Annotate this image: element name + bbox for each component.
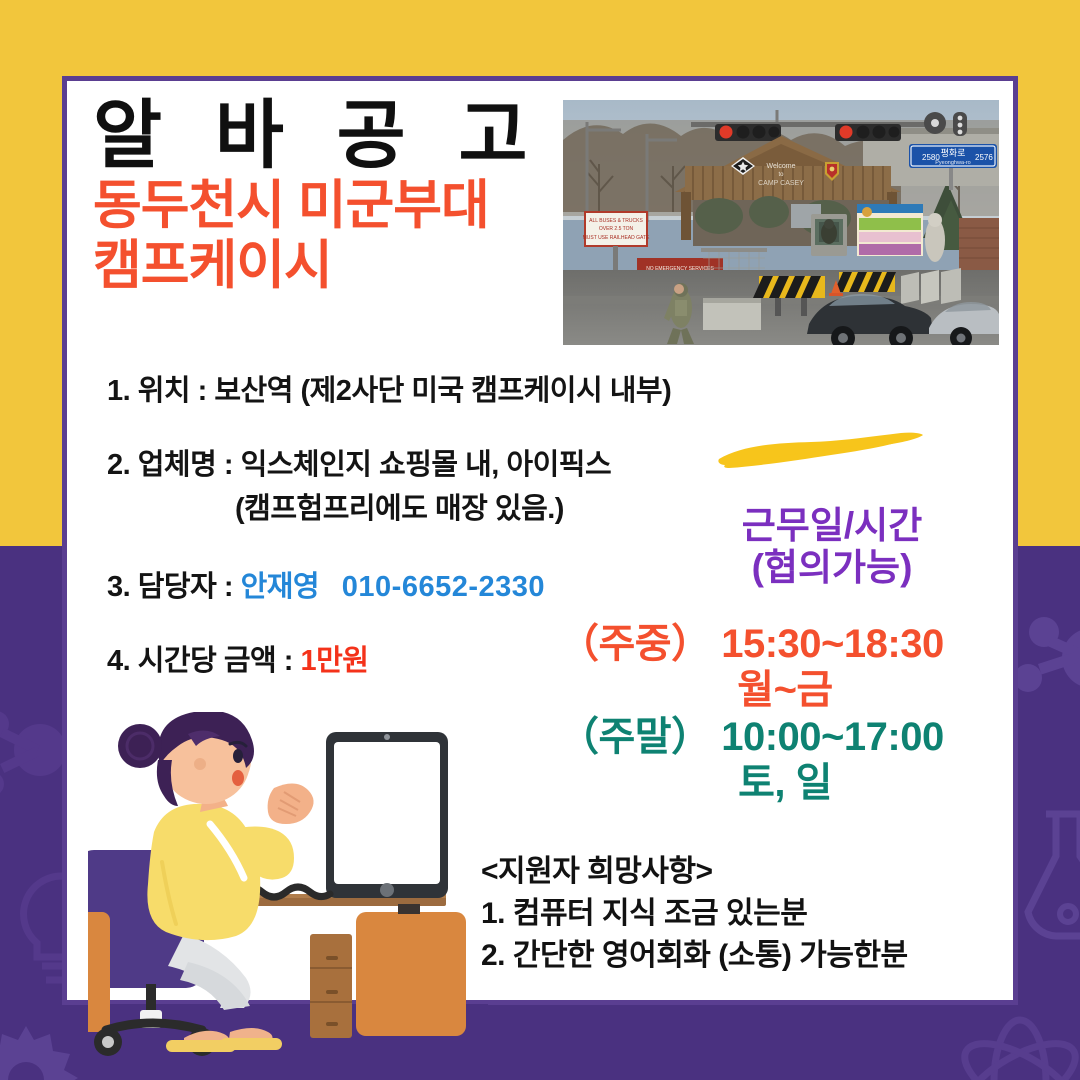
weekday-hours: 15:30~18:30 xyxy=(721,622,943,666)
svg-text:to: to xyxy=(778,172,784,178)
weekday-label: （주중） xyxy=(559,622,711,666)
contact-phone-number[interactable]: 010-6652-2330 xyxy=(342,571,545,603)
detail-location-label: 1. 위치 : xyxy=(107,375,214,407)
svg-text:Pyeonghwa-ro: Pyeonghwa-ro xyxy=(935,160,970,166)
requirement-item-1: 1. 컴퓨터 지식 조금 있는분 xyxy=(481,893,908,935)
svg-text:Welcome: Welcome xyxy=(766,163,795,170)
schedule-heading: 근무일/시간 (협의가능) xyxy=(667,505,997,589)
schedule-heading-line2: (협의가능) xyxy=(667,547,997,589)
brush-stroke-decoration xyxy=(715,429,927,473)
detail-location-value: 보산역 (제2사단 미국 캠프케이시 내부) xyxy=(214,375,671,407)
weekend-hours: 10:00~17:00 xyxy=(721,715,943,759)
subtitle-line-2: 캠프케이시 xyxy=(93,238,544,294)
detail-wage-label: 4. 시간당 금액 : xyxy=(107,645,300,677)
detail-location: 1. 위치 : 보산역 (제2사단 미국 캠프케이시 내부) xyxy=(107,367,671,409)
requirement-item-2: 2. 간단한 영어회화 (소통) 가능한분 xyxy=(481,935,908,977)
weekend-label: （주말） xyxy=(559,715,711,759)
schedule-heading-line1: 근무일/시간 xyxy=(667,505,997,547)
detail-company-label: 2. 업체명 : xyxy=(107,449,241,481)
detail-contact-label: 3. 담당자 : xyxy=(107,571,241,603)
svg-text:OVER 2.5 TON: OVER 2.5 TON xyxy=(599,226,634,232)
detail-hourly-wage: 4. 시간당 금액 : 1만원 xyxy=(107,637,368,679)
subtitle-line-1: 동두천시 미군부대 xyxy=(93,178,544,234)
weekday-schedule-row: （주중） 15:30~18:30 xyxy=(559,621,1011,667)
weekday-days: 월~금 xyxy=(559,667,1011,713)
page-title: 알 바 공 고 xyxy=(93,97,544,174)
svg-text:MUST USE RAILHEAD GATE: MUST USE RAILHEAD GATE xyxy=(583,235,650,241)
detail-contact: 3. 담당자 : 안재영 010-6652-2330 xyxy=(107,563,545,605)
requirements-block: <지원자 희망사항> 1. 컴퓨터 지식 조금 있는분 2. 간단한 영어회화 … xyxy=(481,851,908,977)
headline-block: 알 바 공 고 동두천시 미군부대 캠프케이시 xyxy=(93,97,544,294)
svg-text:평화로: 평화로 xyxy=(941,148,966,158)
detail-company-value: 익스체인지 쇼핑몰 내, 아이픽스 xyxy=(241,449,612,481)
job-posting-poster: 알 바 공 고 동두천시 미군부대 캠프케이시 xyxy=(0,0,1080,1080)
svg-text:ALL BUSES & TRUCKS: ALL BUSES & TRUCKS xyxy=(589,218,643,224)
svg-text:2576: 2576 xyxy=(975,153,993,162)
detail-company: 2. 업체명 : 익스체인지 쇼핑몰 내, 아이픽스 xyxy=(107,441,611,483)
camp-casey-gate-photo: Welcome to CAMP CASEY 2580 평화로 xyxy=(563,100,999,345)
weekend-schedule-row: （주말） 10:00~17:00 xyxy=(559,714,1011,760)
requirements-heading: <지원자 희망사항> xyxy=(481,851,908,893)
poster-card: 알 바 공 고 동두천시 미군부대 캠프케이시 xyxy=(62,76,1018,1005)
weekend-days: 토, 일 xyxy=(559,760,1011,806)
detail-company-note: (캠프험프리에도 매장 있음.) xyxy=(235,485,564,527)
wage-value: 1만원 xyxy=(300,645,368,677)
svg-text:CAMP CASEY: CAMP CASEY xyxy=(758,180,804,187)
schedule-rows: （주중） 15:30~18:30 월~금 （주말） 10:00~17:00 토,… xyxy=(559,621,1011,807)
contact-person-name: 안재영 xyxy=(241,571,320,603)
